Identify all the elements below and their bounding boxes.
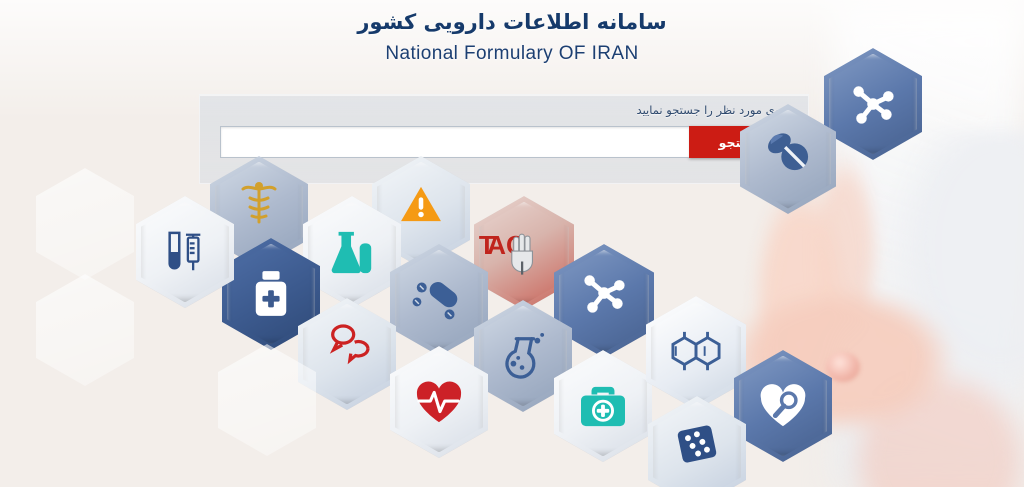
caduceus-icon [238,180,280,228]
syringe-testtube-icon [162,229,208,275]
page-root: سامانه اطلاعات دارویی کشور National Form… [0,0,1024,487]
benzene-rings-icon [668,328,724,378]
medical-kit-icon [579,384,627,428]
molecule-white-icon [581,270,627,316]
search-input[interactable] [220,126,689,158]
round-flask-icon [499,333,547,379]
heart-pulse-icon [414,379,464,425]
search-row: جستجو [220,126,792,158]
capsule-pills-icon [763,129,813,173]
heart-magnifier-icon [759,384,807,428]
blister-pack-icon [676,424,718,464]
page-title-fa: سامانه اطلاعات دارویی کشور [0,10,1024,34]
speech-bubbles-icon [324,325,370,367]
search-panel: داروی مورد نظر را جستجو نمایید جستجو [199,94,809,184]
medicine-bottle-icon [251,270,291,318]
capsule-tablets-icon [413,277,465,323]
warning-triangle-icon [400,185,442,223]
molecule-icon [850,81,896,127]
erlenmeyer-flask-icon [328,228,376,276]
tiac-fist-icon: T AC [493,227,555,279]
